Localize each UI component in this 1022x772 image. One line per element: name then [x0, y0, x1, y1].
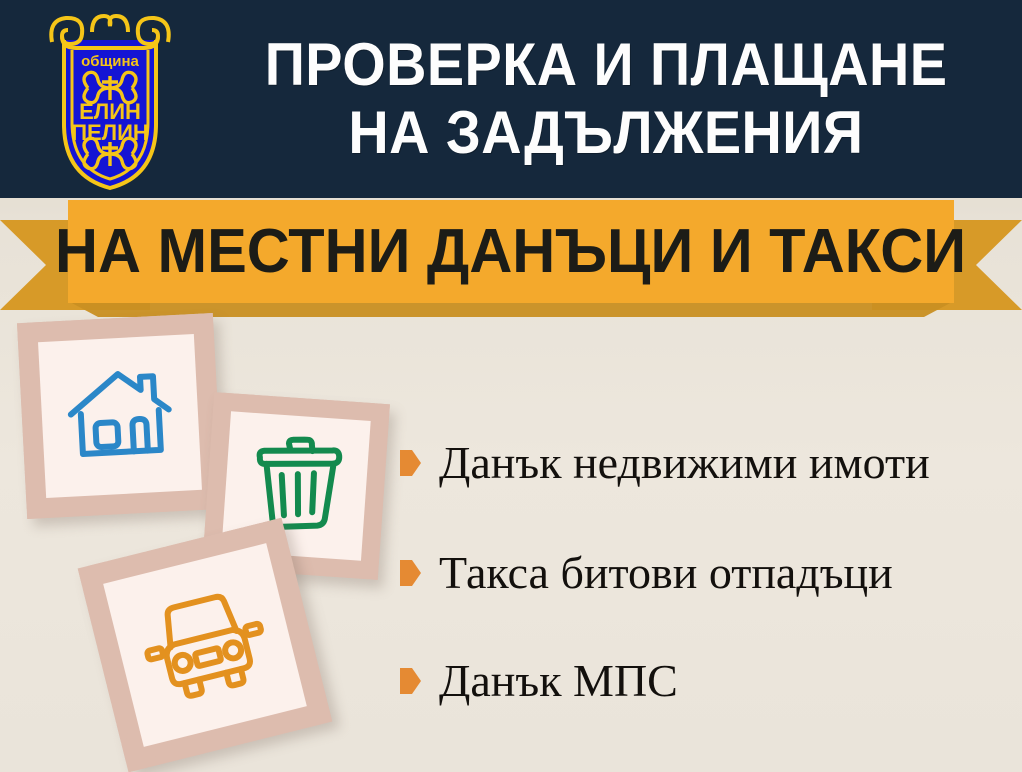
- list-item-label: Такса битови отпадъци: [439, 548, 893, 598]
- crest-label-line2: ПЕЛИН: [71, 120, 149, 145]
- stamp-paper: [38, 334, 202, 498]
- stamp-paper: [103, 543, 307, 747]
- list-item[interactable]: Данък недвижими имоти: [400, 438, 930, 488]
- page-title-line-1: ПРОВЕРКА И ПЛАЩАНЕ: [265, 31, 948, 99]
- stamp-card-property: [17, 313, 223, 519]
- car-icon: [132, 578, 278, 713]
- coat-of-arms-icon: община ЕЛИН ПЕЛИН: [30, 6, 190, 192]
- bullet-arrow-icon: [400, 668, 421, 694]
- list-item-label: Данък МПС: [439, 656, 678, 706]
- list-item-label: Данък недвижими имоти: [439, 438, 930, 488]
- poster-canvas: община ЕЛИН ПЕЛИН ПРОВЕРКА И ПЛАЩАНЕ НА …: [0, 0, 1022, 772]
- subtitle-ribbon: НА МЕСТНИ ДАНЪЦИ И ТАКСИ: [0, 198, 1022, 314]
- page-title-line-2: НА ЗАДЪЛЖЕНИЯ: [348, 99, 863, 167]
- page-title: ПРОВЕРКА И ПЛАЩАНЕ НА ЗАДЪЛЖЕНИЯ: [196, 14, 1016, 184]
- list-item[interactable]: Такса битови отпадъци: [400, 548, 893, 598]
- bullet-arrow-icon: [400, 560, 421, 586]
- crest-label-obshtina: община: [81, 53, 139, 70]
- tax-type-list: Данък недвижими имоти Такса битови отпад…: [400, 418, 1022, 718]
- ribbon-label: НА МЕСТНИ ДАНЪЦИ И ТАКСИ: [55, 221, 966, 283]
- stamp-card-group: [0, 300, 420, 772]
- header-banner: община ЕЛИН ПЕЛИН ПРОВЕРКА И ПЛАЩАНЕ НА …: [0, 0, 1022, 198]
- ribbon-body: НА МЕСТНИ ДАНЪЦИ И ТАКСИ: [68, 200, 954, 303]
- house-icon: [62, 363, 177, 469]
- list-item[interactable]: Данък МПС: [400, 656, 678, 706]
- bullet-arrow-icon: [400, 450, 421, 476]
